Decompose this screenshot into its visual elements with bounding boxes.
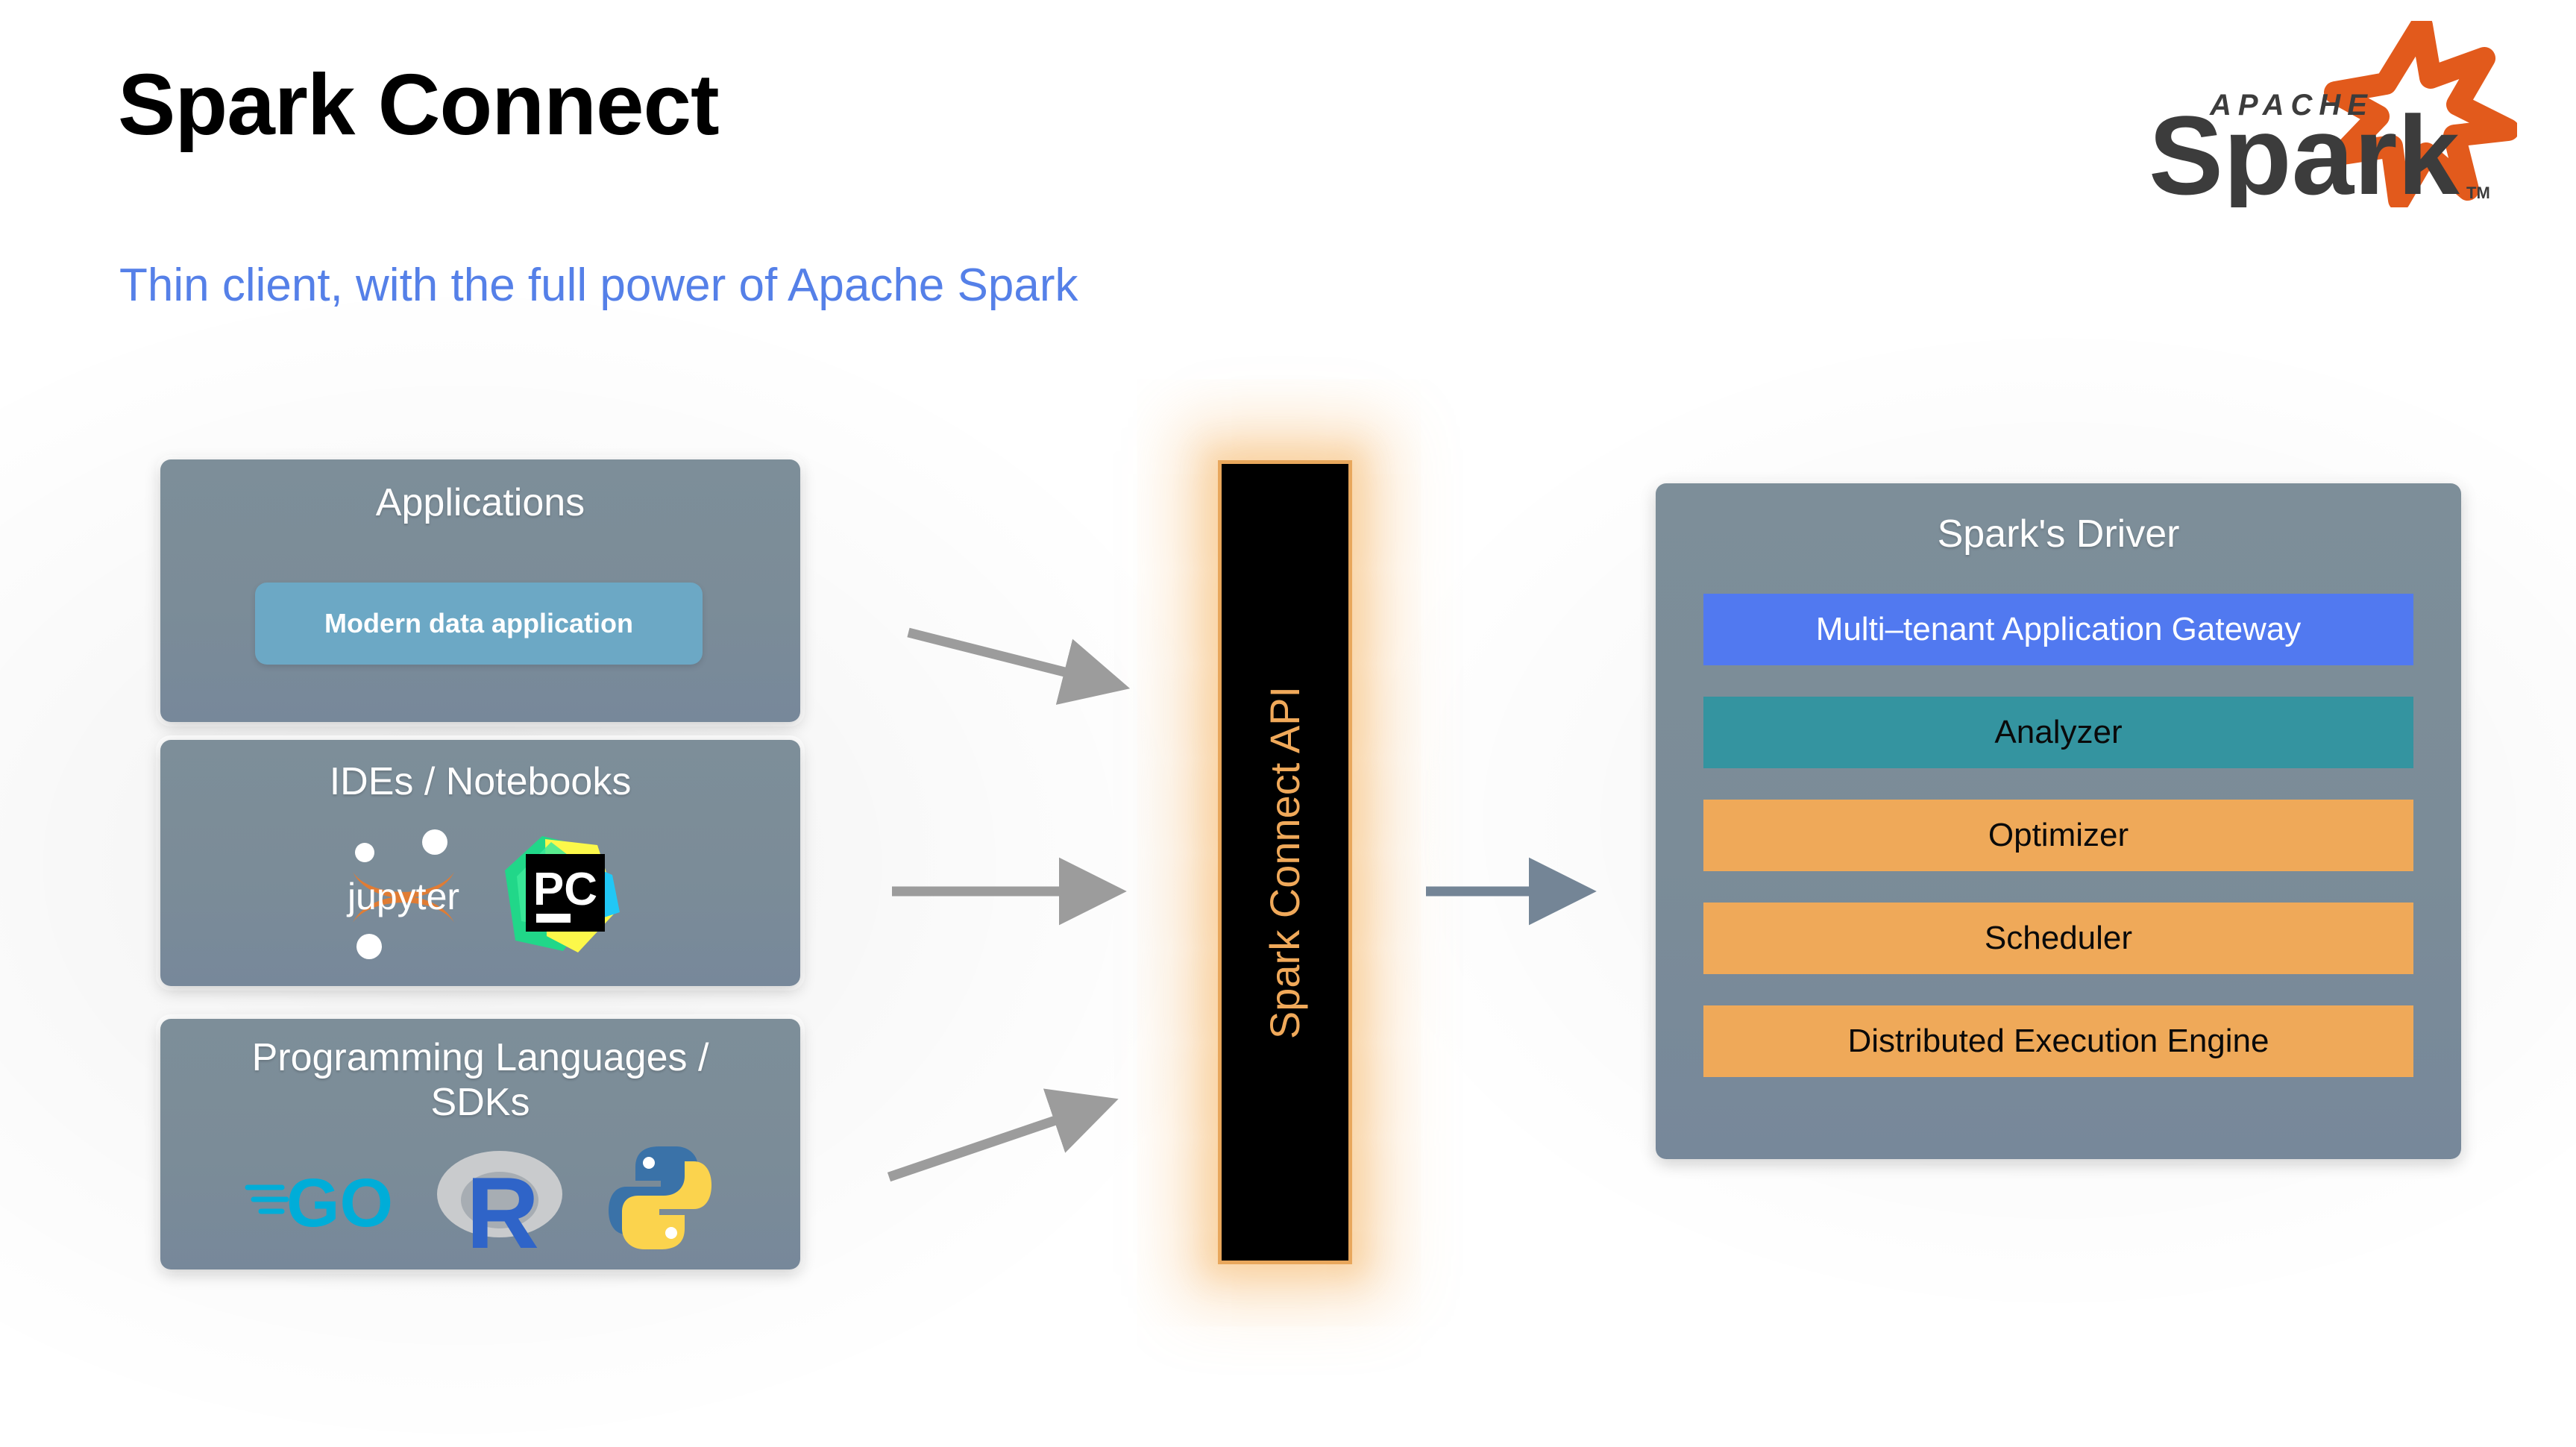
arrow-applications-to-api [908,633,1115,685]
driver-row-label: Optimizer [1988,817,2129,854]
python-logo [604,1142,716,1254]
svg-text:Spark: Spark [2149,92,2460,207]
panel-sparks-driver[interactable]: Spark's Driver Multi–tenant Application … [1656,483,2461,1159]
panel-ides-notebooks[interactable]: IDEs / Notebooks jupyter PC [160,740,800,986]
driver-row-label: Analyzer [1994,714,2122,751]
panel-programming-languages[interactable]: Programming Languages / SDKs GO R [160,1019,800,1269]
driver-row-analyzer[interactable]: Analyzer [1703,697,2413,768]
driver-row-optimizer[interactable]: Optimizer [1703,800,2413,871]
svg-text:TM: TM [2466,183,2490,202]
panel-applications[interactable]: Applications Modern data application [160,459,800,722]
panel-driver-title: Spark's Driver [1656,512,2461,556]
panel-applications-title: Applications [160,480,800,525]
apache-spark-logo: APACHE Spark TM [2129,21,2517,207]
svg-text:PC: PC [533,864,597,915]
jupyter-logo: jupyter [336,827,471,961]
driver-row-label: Distributed Execution Engine [1848,1023,2269,1060]
panel-languages-title-line2: SDKs [431,1081,530,1124]
panel-languages-title: Programming Languages / SDKs [160,1035,800,1126]
modern-data-application-box[interactable]: Modern data application [255,583,703,665]
driver-row-label: Multi–tenant Application Gateway [1816,611,2302,648]
svg-text:jupyter: jupyter [346,876,459,917]
pycharm-logo: PC [499,832,624,957]
spark-connect-api-bar[interactable]: Spark Connect API [1218,460,1352,1264]
page-subtitle: Thin client, with the full power of Apac… [119,263,1078,309]
r-logo: R [428,1142,571,1254]
driver-row-distributed-execution-engine[interactable]: Distributed Execution Engine [1703,1005,2413,1077]
svg-text:R: R [466,1156,539,1254]
panel-languages-title-line1: Programming Languages / [252,1036,709,1079]
driver-row-multi-tenant-application-gateway[interactable]: Multi–tenant Application Gateway [1703,594,2413,665]
spark-connect-api-label: Spark Connect API [1261,685,1310,1038]
svg-text:GO: GO [286,1165,393,1241]
panel-ides-title: IDEs / Notebooks [160,759,800,804]
driver-row-label: Scheduler [1985,920,2132,957]
arrow-languages-to-api [889,1104,1104,1177]
go-logo: GO [245,1153,415,1243]
modern-data-application-label: Modern data application [324,608,633,639]
driver-row-scheduler[interactable]: Scheduler [1703,903,2413,974]
page-title: Spark Connect [118,61,719,148]
